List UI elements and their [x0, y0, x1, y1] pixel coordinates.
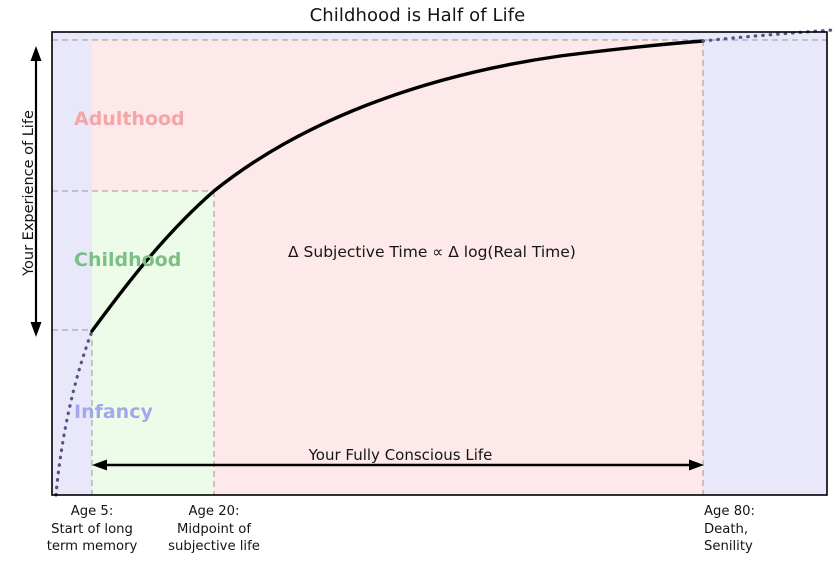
chart-figure: Childhood is Half of Life Your Experienc…: [0, 0, 835, 562]
x-tick-age80-line3: Senility: [704, 538, 755, 556]
chart-title: Childhood is Half of Life: [0, 5, 835, 26]
region-label-infancy: Infancy: [74, 401, 153, 423]
conscious-life-span-label: Your Fully Conscious Life: [0, 446, 835, 464]
chart-canvas: [0, 0, 835, 562]
x-tick-age20-line1: Age 20:: [168, 503, 260, 521]
curve-experience-solid: [92, 41, 703, 331]
formula-annotation: Δ Subjective Time ∝ Δ log(Real Time): [288, 243, 576, 261]
region-label-adulthood: Adulthood: [74, 108, 185, 130]
x-tick-age80-line2: Death,: [704, 521, 755, 539]
region-label-childhood: Childhood: [74, 249, 181, 271]
conscious-life-span-text: Your Fully Conscious Life: [309, 446, 493, 464]
x-tick-age5-line3: term memory: [47, 538, 138, 556]
curve-senility-dotted: [703, 30, 833, 41]
x-tick-age80-line1: Age 80:: [704, 503, 755, 521]
x-tick-label-age80: Age 80: Death, Senility: [704, 503, 755, 556]
x-tick-age5-line1: Age 5:: [47, 503, 138, 521]
x-tick-age5-line2: Start of long: [47, 521, 138, 539]
x-tick-label-age5: Age 5: Start of long term memory: [47, 503, 138, 556]
y-axis-label: Your Experience of Life: [21, 43, 37, 343]
x-tick-age20-line2: Midpoint of: [168, 521, 260, 539]
x-tick-age20-line3: subjective life: [168, 538, 260, 556]
x-tick-label-age20: Age 20: Midpoint of subjective life: [168, 503, 260, 556]
